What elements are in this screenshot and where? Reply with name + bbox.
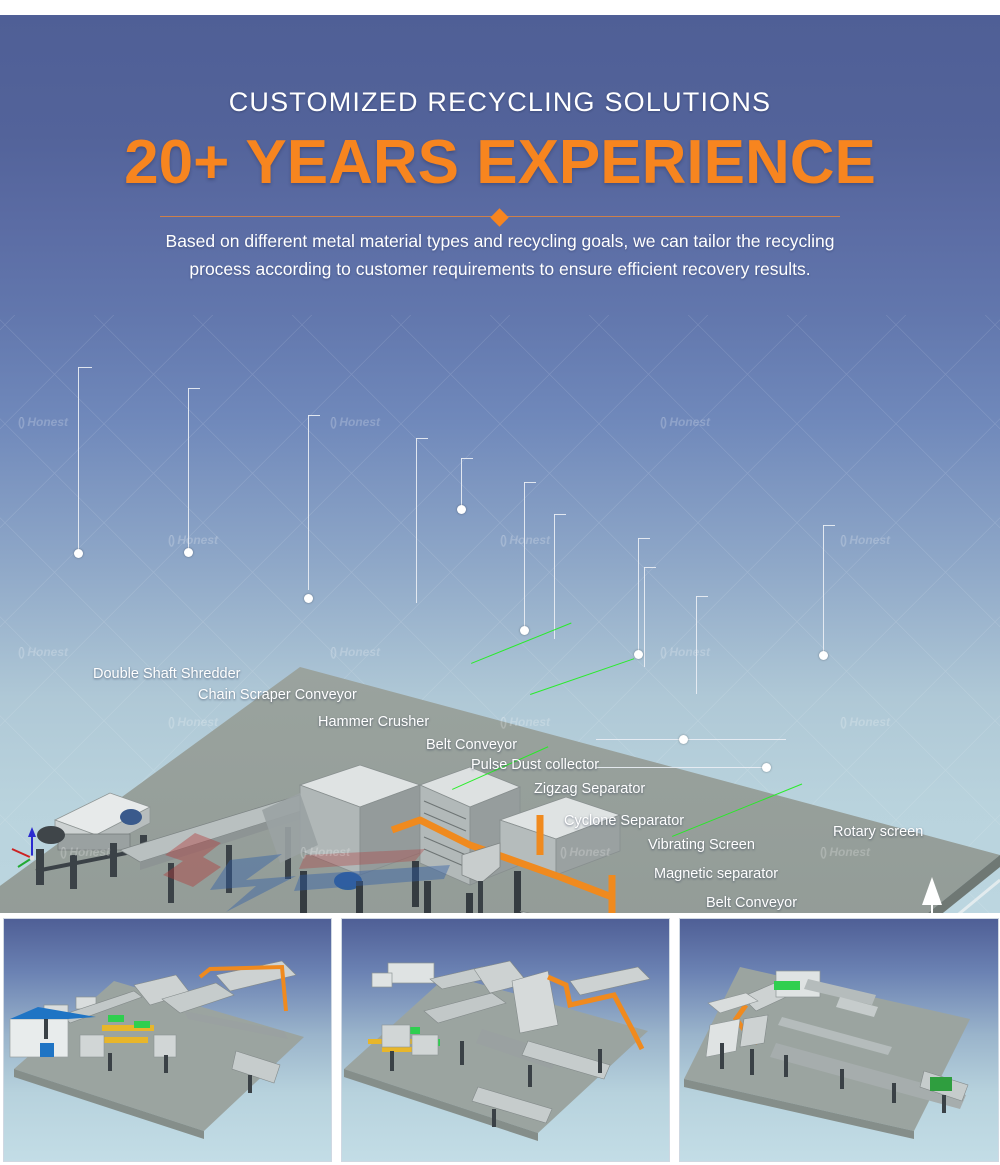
leader-line	[823, 525, 824, 655]
label-magnetic-separator: Magnetic separator	[654, 866, 778, 882]
leader-endpoint-dot	[634, 650, 643, 659]
label-pulse-dust-collector: Pulse Dust collector	[471, 757, 599, 773]
watermark: () Honest	[660, 415, 710, 429]
leader-tick	[644, 567, 656, 568]
leader-line	[596, 767, 768, 768]
thumbnail-strip	[0, 913, 1000, 1165]
watermark: () Honest	[560, 845, 610, 859]
leader-tick	[308, 415, 320, 416]
top-white-strip	[0, 0, 1000, 15]
leader-line	[461, 458, 462, 508]
leader-tick	[524, 482, 536, 483]
leader-line	[644, 567, 645, 667]
watermark: () Honest	[840, 715, 890, 729]
leader-tick	[696, 596, 708, 597]
leader-endpoint-dot	[457, 505, 466, 514]
watermark: () Honest	[330, 645, 380, 659]
label-belt-conveyor-1: Belt Conveyor	[426, 737, 517, 753]
watermark: () Honest	[60, 845, 110, 859]
label-zigzag-separator: Zigzag Separator	[534, 781, 645, 797]
label-chain-scraper-conveyor: Chain Scraper Conveyor	[198, 687, 357, 703]
label-double-shaft-shredder: Double Shaft Shredder	[93, 666, 241, 682]
hero-kicker: CUSTOMIZED RECYCLING SOLUTIONS	[0, 87, 1000, 118]
label-hammer-crusher: Hammer Crusher	[318, 714, 429, 730]
watermark: () Honest	[18, 645, 68, 659]
leader-line	[78, 367, 79, 553]
watermark: () Honest	[18, 415, 68, 429]
leader-endpoint-dot	[304, 594, 313, 603]
leader-tick	[461, 458, 473, 459]
leader-endpoint-dot	[74, 549, 83, 558]
watermark: () Honest	[500, 715, 550, 729]
leader-line	[308, 415, 309, 590]
leader-line	[416, 438, 417, 603]
leader-tick	[188, 388, 200, 389]
leader-tick	[823, 525, 835, 526]
leader-line	[696, 596, 697, 694]
leader-endpoint-dot	[520, 626, 529, 635]
watermark: () Honest	[500, 533, 550, 547]
label-belt-conveyor-2: Belt Conveyor	[706, 895, 797, 911]
leader-tick	[416, 438, 428, 439]
hero-banner: CUSTOMIZED RECYCLING SOLUTIONS 20+ YEARS…	[0, 15, 1000, 315]
watermark: () Honest	[330, 415, 380, 429]
leader-endpoint-dot	[184, 548, 193, 557]
watermark: () Honest	[840, 533, 890, 547]
watermark: () Honest	[660, 645, 710, 659]
hero-title: 20+ YEARS EXPERIENCE	[0, 127, 1000, 198]
hero-divider	[160, 211, 840, 223]
leader-line	[638, 538, 639, 658]
leader-endpoint-dot	[679, 735, 688, 744]
label-rotary-screen: Rotary screen	[833, 824, 923, 840]
axis-gizmo	[12, 827, 36, 867]
label-cyclone-separator: Cyclone Separator	[564, 813, 684, 829]
label-vibrating-screen: Vibrating Screen	[648, 837, 755, 853]
leader-line	[524, 482, 525, 630]
leader-line	[554, 514, 555, 639]
leader-tick	[638, 538, 650, 539]
diamond-icon	[490, 208, 508, 226]
leader-line	[188, 388, 189, 552]
leader-endpoint-dot	[762, 763, 771, 772]
leader-tick	[554, 514, 566, 515]
plant-layout-diagram: () Honest () Honest () Honest () Honest …	[0, 315, 1000, 913]
thumbnail-layout-view-2[interactable]	[341, 918, 670, 1162]
thumbnail-layout-view-3[interactable]	[679, 918, 999, 1162]
watermark: () Honest	[820, 845, 870, 859]
leader-tick	[78, 367, 92, 368]
watermark: () Honest	[168, 533, 218, 547]
watermark: () Honest	[168, 715, 218, 729]
leader-line	[596, 739, 786, 740]
thumbnail-layout-view-1[interactable]	[3, 918, 332, 1162]
watermark: () Honest	[300, 845, 350, 859]
page-root: CUSTOMIZED RECYCLING SOLUTIONS 20+ YEARS…	[0, 0, 1000, 1165]
hero-description: Based on different metal material types …	[148, 227, 852, 283]
leader-endpoint-dot	[819, 651, 828, 660]
